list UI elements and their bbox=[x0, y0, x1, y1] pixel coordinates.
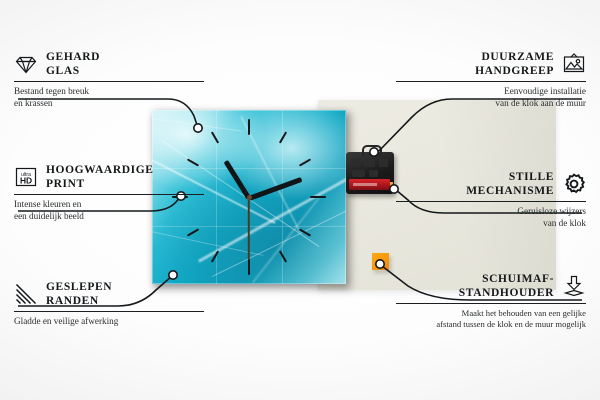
hour-hand bbox=[224, 160, 252, 200]
divider bbox=[14, 311, 204, 312]
feature-header: DUURZAME HANDGREEP bbox=[396, 50, 586, 78]
hour-tick bbox=[299, 158, 311, 166]
clock-center-hub bbox=[247, 195, 252, 200]
feature-header: STILLE MECHANISME bbox=[396, 170, 586, 198]
divider bbox=[396, 303, 586, 304]
feature-gehard-glas[interactable]: GEHARD GLAS Bestand tegen breuk en krass… bbox=[14, 50, 204, 109]
feature-title: HOOGWAARDIGE PRINT bbox=[46, 163, 154, 191]
movement-detail bbox=[351, 159, 360, 166]
feature-title: SCHUIMAF- STANDHOUDER bbox=[459, 272, 554, 300]
feature-header: GEHARD GLAS bbox=[14, 50, 204, 78]
feature-header: GESLEPEN RANDEN bbox=[14, 280, 204, 308]
feature-header: SCHUIMAF- STANDHOUDER bbox=[396, 272, 586, 300]
divider bbox=[396, 201, 586, 202]
press-down-icon bbox=[562, 274, 586, 298]
movement-detail bbox=[369, 170, 378, 177]
svg-text:HD: HD bbox=[20, 175, 32, 185]
feature-description: Maakt het behouden van een gelijke afsta… bbox=[396, 308, 586, 329]
hour-tick bbox=[279, 250, 287, 262]
feature-duurzame-handgreep[interactable]: DUURZAME HANDGREEP Eenvoudige installati… bbox=[396, 50, 586, 109]
ultra-hd-icon: ultra HD bbox=[14, 165, 38, 189]
hour-tick bbox=[310, 196, 326, 198]
feather-streak bbox=[152, 118, 241, 132]
feature-title: STILLE MECHANISME bbox=[466, 170, 554, 198]
feature-description: Eenvoudige installatie van de klok aan d… bbox=[396, 86, 586, 109]
feature-stille-mechanisme[interactable]: STILLE MECHANISME Geruisloze wijzers van… bbox=[396, 170, 586, 229]
feature-header: ultra HD HOOGWAARDIGE PRINT bbox=[14, 163, 204, 191]
foam-spacer-pad bbox=[372, 253, 389, 270]
battery-label bbox=[353, 183, 377, 186]
feature-description: Gladde en veilige afwerking bbox=[14, 316, 204, 328]
feature-hoogwaardige-print[interactable]: ultra HD HOOGWAARDIGE PRINT Intense kleu… bbox=[14, 163, 204, 222]
picture-frame-icon bbox=[562, 52, 586, 76]
feature-description: Intense kleuren en een duidelijk beeld bbox=[14, 199, 204, 222]
feature-description: Bestand tegen breuk en krassen bbox=[14, 86, 204, 109]
second-hand bbox=[248, 198, 250, 260]
movement-detail bbox=[379, 159, 388, 167]
diamond-icon bbox=[14, 52, 38, 76]
hour-tick bbox=[279, 131, 287, 143]
gear-icon bbox=[562, 172, 586, 196]
hour-tick bbox=[248, 259, 250, 275]
feature-geslepen-randen[interactable]: GESLEPEN RANDEN Gladde en veilige afwerk… bbox=[14, 280, 204, 328]
divider bbox=[14, 194, 204, 195]
movement-detail bbox=[364, 158, 375, 167]
diagonal-hatch-icon bbox=[14, 282, 38, 306]
clock-movement bbox=[346, 152, 394, 194]
feature-title: GEHARD GLAS bbox=[46, 50, 100, 78]
feature-description: Geruisloze wijzers van de klok bbox=[396, 206, 586, 229]
divider bbox=[14, 81, 204, 82]
aa-battery bbox=[349, 179, 390, 190]
hour-tick bbox=[187, 228, 199, 236]
hour-tick bbox=[211, 131, 219, 143]
divider bbox=[396, 81, 586, 82]
feature-schuimafstandhouder[interactable]: SCHUIMAF- STANDHOUDER Maakt het behouden… bbox=[396, 272, 586, 329]
movement-detail bbox=[352, 170, 365, 177]
hour-tick bbox=[248, 119, 250, 135]
glass-pane-line bbox=[216, 110, 217, 284]
feature-title: GESLEPEN RANDEN bbox=[46, 280, 112, 308]
infographic-canvas: GEHARD GLAS Bestand tegen breuk en krass… bbox=[0, 0, 600, 400]
hanger-hook-icon bbox=[362, 145, 382, 156]
feature-title: DUURZAME HANDGREEP bbox=[475, 50, 554, 78]
